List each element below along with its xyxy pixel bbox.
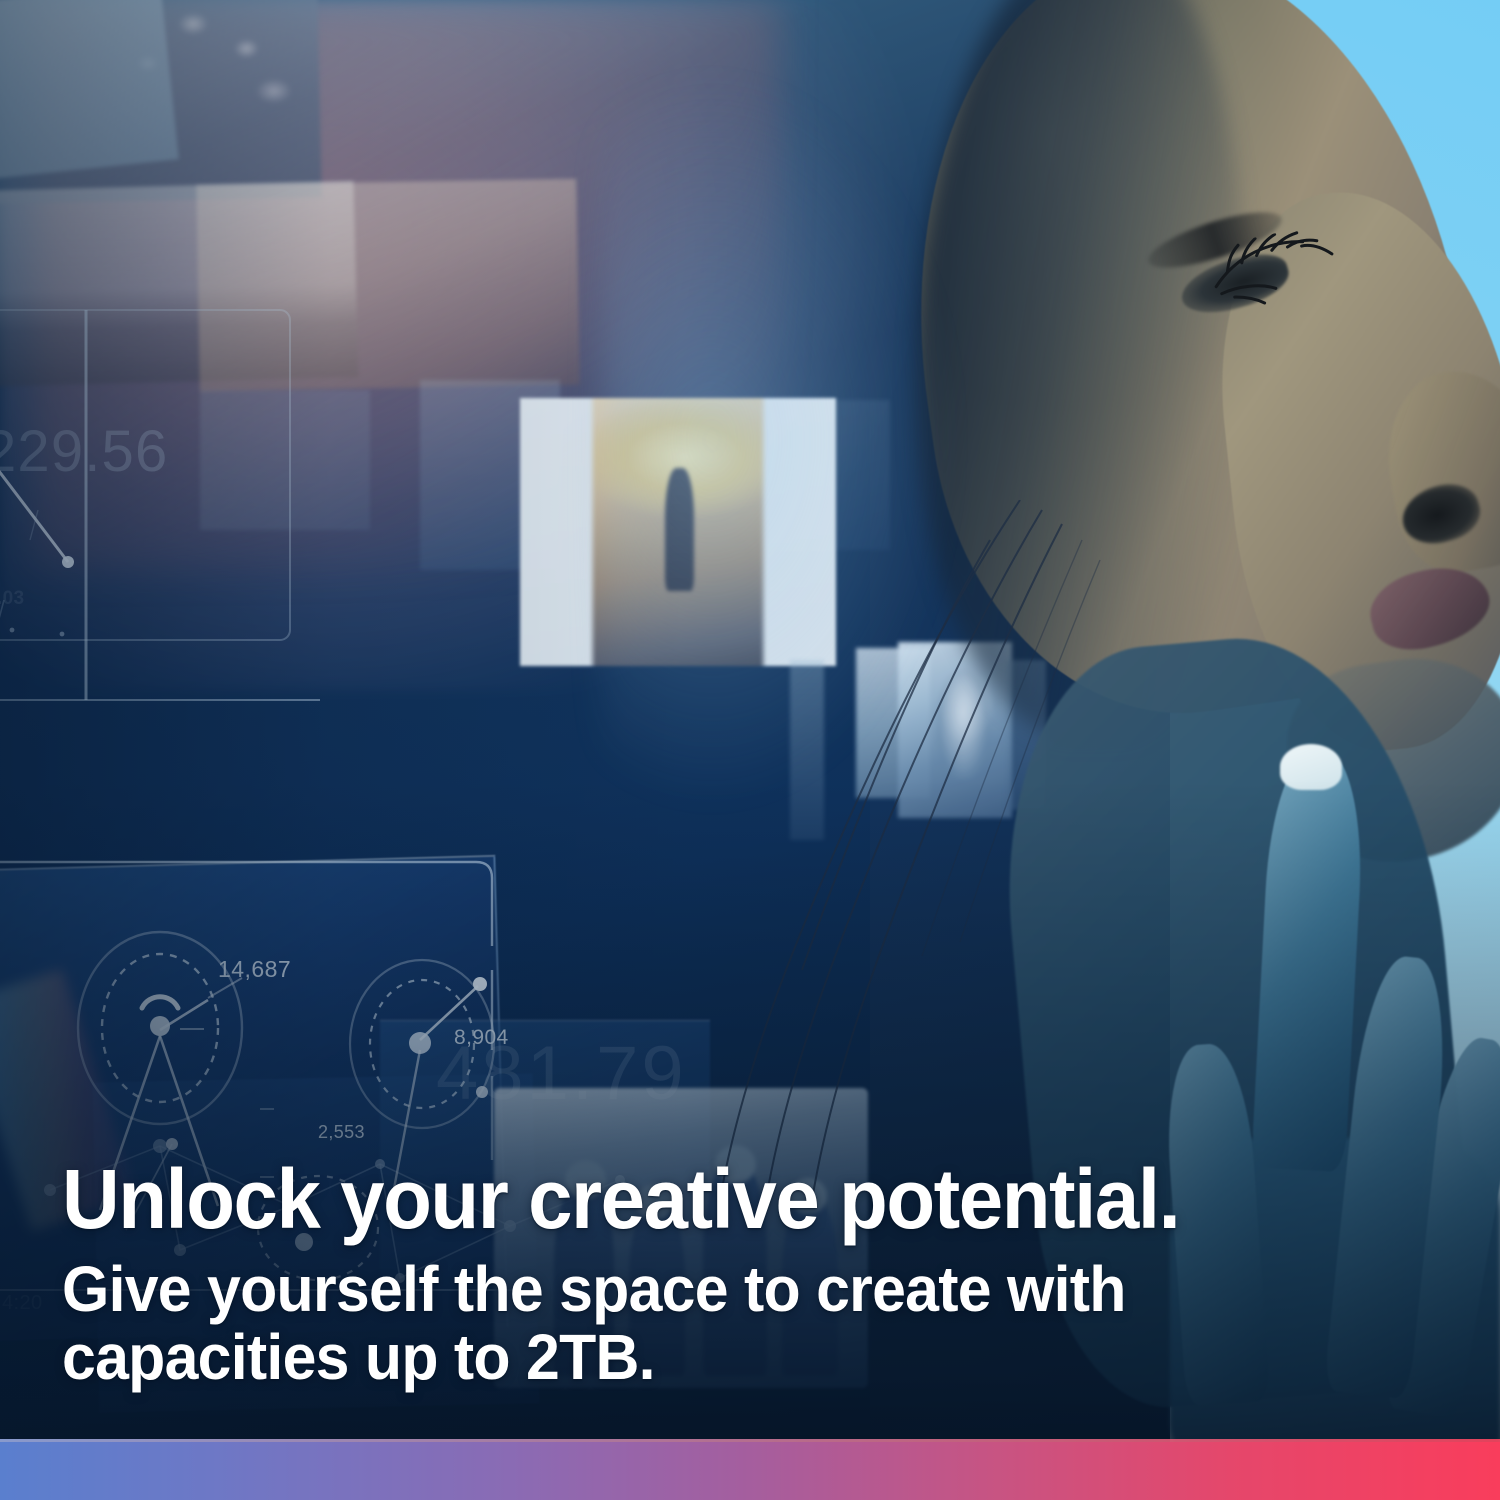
- brand-gradient-bar: [0, 1442, 1500, 1500]
- subheading-line-1: Give yourself the space to create with: [62, 1256, 1373, 1324]
- marketing-poster: 229.56 7.03: [0, 0, 1500, 1500]
- page-title: Unlock your creative potential.: [62, 1158, 1373, 1240]
- copy-block: Unlock your creative potential. Give you…: [62, 1158, 1442, 1392]
- subheading-line-2: capacities up to 2TB.: [62, 1324, 1373, 1392]
